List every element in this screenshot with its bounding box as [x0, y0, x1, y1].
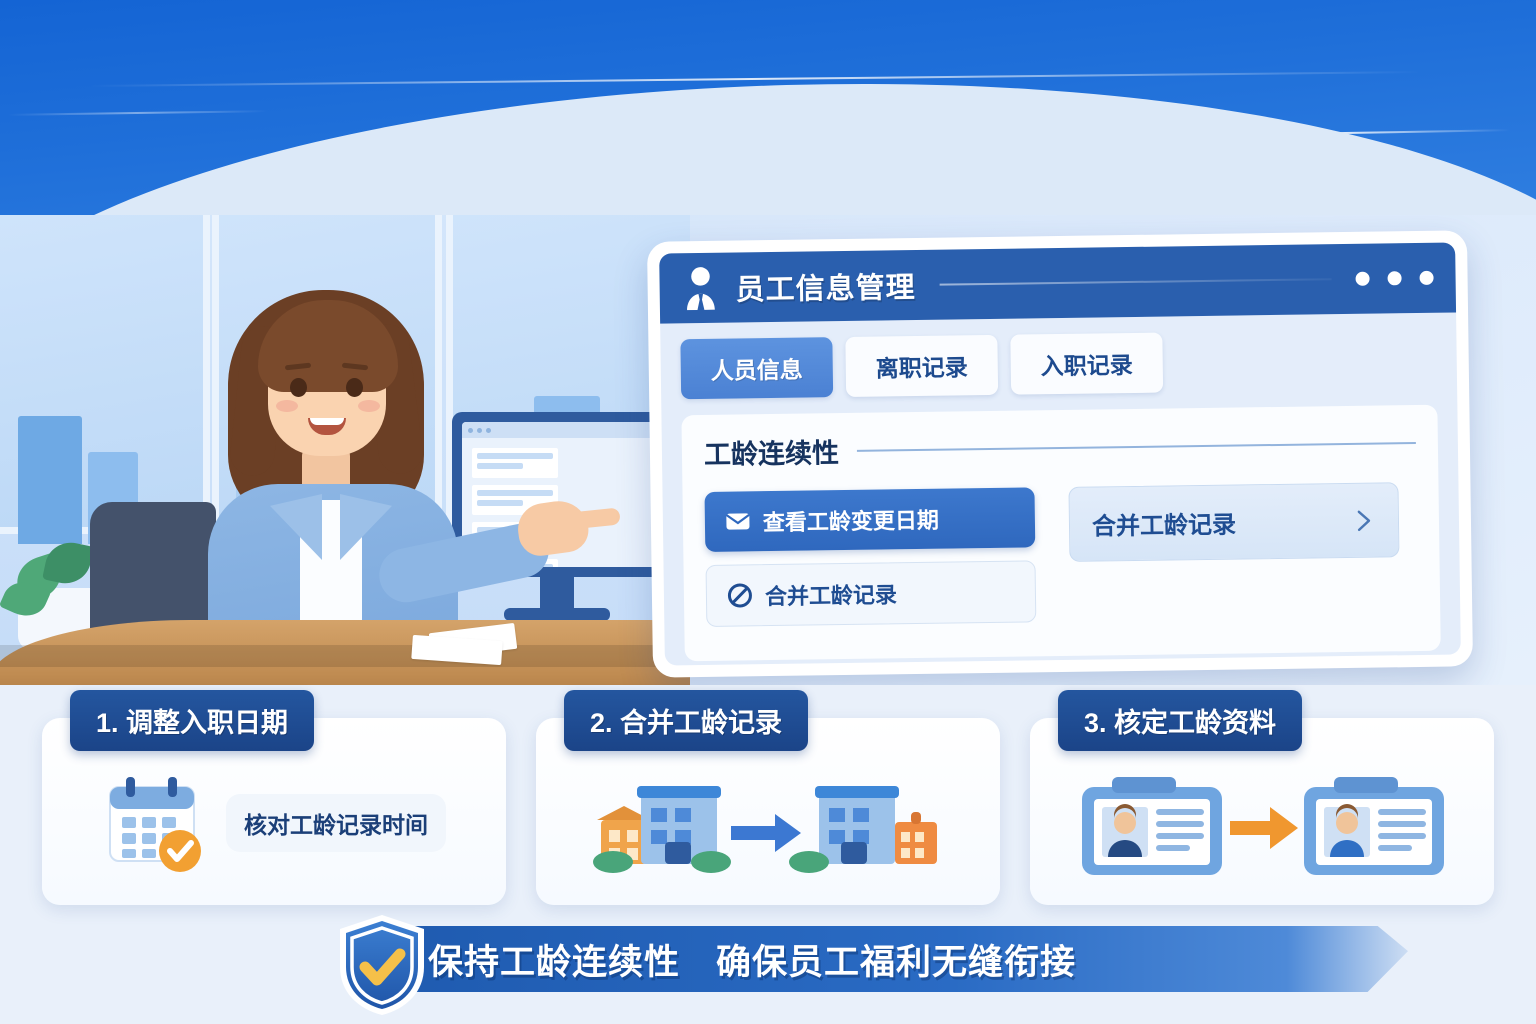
bottom-banner: 保持工龄连续性 确保员工福利无缝衔接 [0, 908, 1536, 1024]
app-window: 员工信息管理 人员信息 离职记录 入职记录 工龄连续性 [647, 230, 1473, 677]
tab-resignation-records[interactable]: 离职记录 [845, 335, 998, 397]
page-header [0, 0, 1536, 215]
seniority-panel: 工龄连续性 查看工龄变更日期 [681, 405, 1440, 662]
step-pill-label: 核对工龄记录时间 [226, 794, 446, 852]
action-column-right: 合并工龄记录 [1068, 482, 1400, 622]
app-body: 人员信息 离职记录 入职记录 工龄连续性 [660, 312, 1461, 665]
panel-divider [857, 442, 1416, 452]
panel-title: 工龄连续性 [704, 431, 840, 472]
window-controls[interactable] [1355, 271, 1433, 286]
banner-text: 保持工龄连续性 确保员工福利无缝衔接 [428, 932, 1076, 986]
tab-onboarding-records[interactable]: 入职记录 [1010, 333, 1163, 395]
skyline-building [18, 416, 82, 544]
app-titlebar: 员工信息管理 [659, 242, 1456, 323]
id-cards-transfer-icon [1072, 767, 1452, 879]
button-label: 合并工龄记录 [1092, 505, 1236, 542]
step-badge: 1. 调整入职日期 [70, 690, 314, 751]
step-badge: 3. 核定工龄资料 [1058, 690, 1302, 751]
user-tie-icon [681, 266, 720, 311]
button-label: 查看工龄变更日期 [763, 503, 939, 537]
panel-header: 工龄连续性 [704, 423, 1416, 472]
step-badge: 2. 合并工龄记录 [564, 690, 808, 751]
chevron-right-icon [1350, 507, 1376, 533]
button-label: 合并工龄记录 [765, 577, 897, 611]
merge-seniority-records-button[interactable]: 合并工龄记录 [706, 560, 1037, 627]
step-card-1: 1. 调整入职日期 [42, 718, 506, 905]
teeth [310, 418, 344, 425]
cheek-right [358, 400, 380, 412]
header-streak [90, 71, 1420, 87]
step-card-3: 3. 核定工龄资料 [1030, 718, 1494, 905]
tab-bar: 人员信息 离职记录 入职记录 [680, 329, 1437, 400]
hero-section: 员工信息管理 人员信息 离职记录 入职记录 工龄连续性 [0, 190, 1536, 685]
merge-seniority-records-link[interactable]: 合并工龄记录 [1068, 482, 1399, 562]
panel-actions: 查看工龄变更日期 合并工龄记录 [704, 482, 1418, 627]
window-dot-icon[interactable] [1355, 272, 1369, 286]
link-icon [727, 582, 753, 608]
window-dot-icon[interactable] [1387, 271, 1401, 285]
eye-right [346, 378, 363, 397]
action-column-left: 查看工龄变更日期 合并工龄记录 [704, 487, 1036, 627]
window-dot-icon[interactable] [1419, 271, 1433, 285]
view-seniority-change-date-button[interactable]: 查看工龄变更日期 [704, 487, 1035, 552]
steps-row: 1. 调整入职日期 [0, 690, 1536, 905]
title-divider [940, 278, 1332, 285]
office-illustration [0, 190, 690, 685]
infographic-root: 人力资源软件使用教程 如何通过人事系统高效管理企业设定中的工龄连续性 [0, 0, 1536, 1024]
eye-left [290, 378, 307, 397]
shield-check-icon [334, 912, 430, 1016]
app-title: 员工信息管理 [735, 264, 916, 309]
tab-personnel-info[interactable]: 人员信息 [680, 337, 833, 399]
calendar-check-icon [102, 771, 210, 875]
desk-edge [0, 645, 690, 667]
header-streak [8, 110, 268, 116]
cheek-left [276, 400, 298, 412]
buildings-merge-icon [583, 768, 953, 878]
envelope-icon [725, 508, 751, 534]
step-card-2: 2. 合并工龄记录 [536, 718, 1000, 905]
